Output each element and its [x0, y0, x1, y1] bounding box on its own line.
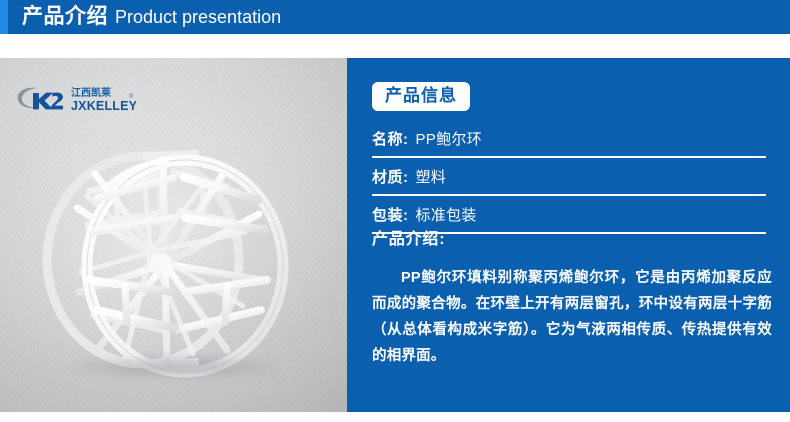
spec-row-name: 名称: PP鲍尔环	[372, 120, 766, 158]
company-logo: 江西凯莱 JXKELLEY ®	[16, 82, 136, 116]
product-drop-shadow	[70, 354, 280, 380]
spec-value-packaging: 标准包装	[416, 204, 477, 225]
spec-value-material: 塑料	[416, 166, 447, 187]
logo-k2-mark	[33, 93, 63, 110]
product-spec-list: 名称: PP鲍尔环 材质: 塑料 包装: 标准包装	[372, 120, 766, 234]
product-photo-pane: 江西凯莱 JXKELLEY ®	[0, 58, 347, 412]
description-paragraph: PP鲍尔环填料别称聚丙烯鲍尔环，它是由丙烯加聚反应而成的聚合物。在环壁上开有两层…	[372, 265, 772, 369]
header-title-group: 产品介绍 Product presentation	[22, 0, 281, 34]
logo-text-en: JXKELLEY	[71, 99, 136, 113]
spec-value-name: PP鲍尔环	[416, 128, 483, 149]
header-accent-stripe	[0, 0, 8, 34]
page-title-en: Product presentation	[115, 8, 281, 26]
spec-row-packaging: 包装: 标准包装	[372, 196, 766, 234]
logo-text-cn: 江西凯莱	[71, 86, 111, 99]
spec-key-material: 材质:	[372, 166, 409, 187]
section-header-bar: 产品介绍 Product presentation	[0, 0, 790, 34]
product-info-pane: 产品信息 名称: PP鲍尔环 材质: 塑料 包装: 标准包装 产品介绍: PP鲍…	[347, 58, 790, 412]
content-panel: 江西凯莱 JXKELLEY ® 产品信息 名称: PP鲍尔环 材质: 塑料	[0, 58, 790, 412]
spec-key-packaging: 包装:	[372, 204, 409, 225]
company-logo-svg: 江西凯莱 JXKELLEY ®	[16, 82, 136, 116]
product-description-block: 产品介绍: PP鲍尔环填料别称聚丙烯鲍尔环，它是由丙烯加聚反应而成的聚合物。在环…	[372, 230, 772, 369]
page-title-cn: 产品介绍	[22, 6, 108, 27]
spec-row-material: 材质: 塑料	[372, 158, 766, 196]
product-info-badge: 产品信息	[372, 82, 470, 111]
product-presentation-page: 产品介绍 Product presentation	[0, 0, 790, 422]
description-heading: 产品介绍:	[372, 230, 772, 249]
logo-registered-mark: ®	[129, 93, 134, 100]
spec-key-name: 名称:	[372, 128, 409, 149]
